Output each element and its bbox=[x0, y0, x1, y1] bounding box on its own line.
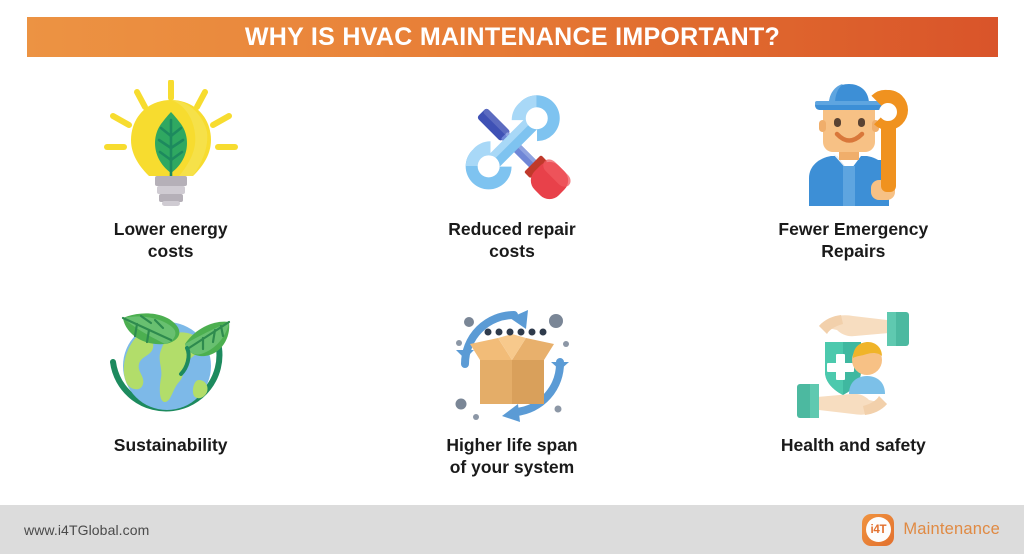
benefit-label: Lower energy costs bbox=[114, 218, 228, 263]
benefit-label: Higher life span of your system bbox=[446, 434, 577, 479]
brand-mark-text: i4T bbox=[866, 517, 891, 542]
benefit-card-lower-energy-costs: Lower energy costs bbox=[0, 72, 341, 282]
brand-logo[interactable]: i4T Maintenance bbox=[862, 514, 1000, 546]
benefit-card-reduced-repair-costs: Reduced repair costs bbox=[341, 72, 682, 282]
header-banner: WHY IS HVAC MAINTENANCE IMPORTANT? bbox=[27, 17, 998, 57]
technician-wrench-icon bbox=[778, 78, 928, 208]
box-cycle-arrows-icon bbox=[437, 304, 587, 424]
brand-name-label: Maintenance bbox=[903, 520, 1000, 539]
footer-website-url[interactable]: www.i4TGlobal.com bbox=[24, 522, 149, 538]
benefit-label: Reduced repair costs bbox=[448, 218, 575, 263]
globe-leaves-icon bbox=[96, 304, 246, 424]
benefit-label: Fewer Emergency Repairs bbox=[778, 218, 928, 263]
wrench-screwdriver-icon bbox=[437, 78, 587, 208]
benefit-label: Sustainability bbox=[114, 434, 228, 456]
lightbulb-leaf-icon bbox=[96, 78, 246, 208]
benefit-label: Health and safety bbox=[781, 434, 926, 456]
page-title: WHY IS HVAC MAINTENANCE IMPORTANT? bbox=[245, 25, 780, 50]
i4t-logo-icon: i4T bbox=[862, 514, 894, 546]
benefit-card-sustainability: Sustainability bbox=[0, 282, 341, 492]
footer-bar: www.i4TGlobal.com i4T Maintenance bbox=[0, 505, 1024, 554]
hands-shield-person-icon bbox=[778, 304, 928, 424]
benefit-card-higher-life-span: Higher life span of your system bbox=[341, 282, 682, 492]
benefit-card-fewer-emergency-repairs: Fewer Emergency Repairs bbox=[683, 72, 1024, 282]
benefit-card-health-and-safety: Health and safety bbox=[683, 282, 1024, 492]
benefits-grid: Lower energy costs bbox=[0, 72, 1024, 492]
